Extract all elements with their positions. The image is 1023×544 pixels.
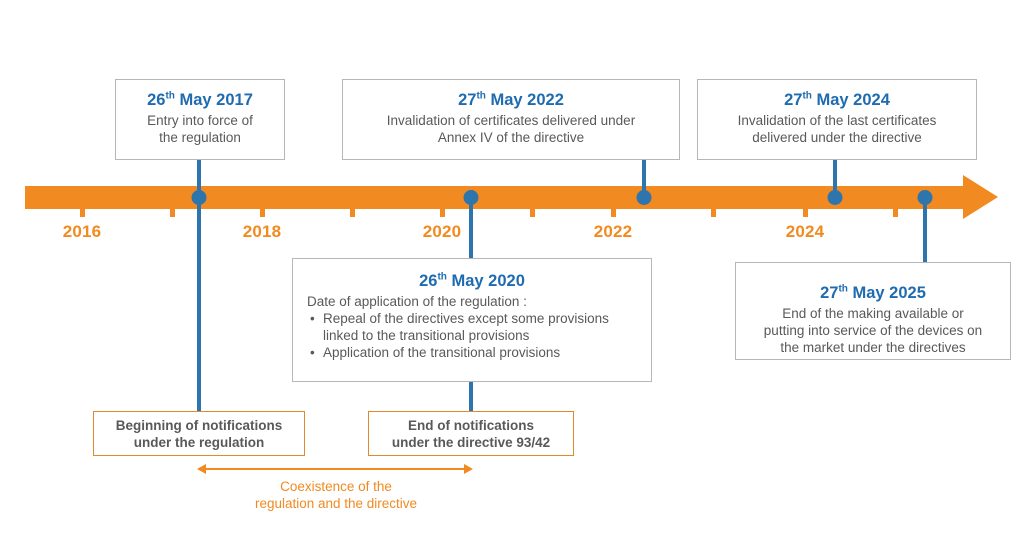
event-date-2025: 27th May 2025 — [736, 283, 1010, 304]
event-text-line: End of the making available or — [736, 305, 1010, 322]
event-date-2017: 26th May 2017 — [116, 90, 284, 111]
coexistence-label: Coexistence of the regulation and the di… — [255, 478, 417, 512]
event-date-2024: 27th May 2024 — [698, 90, 976, 111]
notification-text-line: End of notifications — [408, 418, 534, 433]
axis-tick — [350, 209, 355, 217]
event-box-end-of-making-available-2025[interactable]: 27th May 2025 End of the making availabl… — [735, 262, 1011, 360]
axis-year-label-2018: 2018 — [243, 222, 282, 242]
notification-text-line: under the directive 93/42 — [392, 435, 550, 450]
notification-box-end-of-notifications[interactable]: End of notifications under the directive… — [368, 411, 574, 456]
event-bullet-item: Repeal of the directives except some pro… — [323, 310, 637, 344]
coexistence-text-line: Coexistence of the — [280, 479, 392, 494]
coexistence-arrow-left-head-icon — [197, 464, 206, 474]
event-box-invalidation-annex-iv-2022[interactable]: 27th May 2022 Invalidation of certificat… — [342, 79, 680, 160]
axis-year-label-2024: 2024 — [786, 222, 825, 242]
notification-box-text: End of notifications under the directive… — [392, 417, 550, 451]
timeline-dot-2022[interactable] — [637, 190, 652, 205]
axis-tick — [611, 209, 616, 217]
axis-year-label-2016: 2016 — [63, 222, 102, 242]
axis-tick — [260, 209, 265, 217]
axis-tick — [440, 209, 445, 217]
event-date-2020: 26th May 2020 — [307, 271, 637, 292]
notification-text-line: Beginning of notifications — [116, 418, 282, 433]
event-date-2022: 27th May 2022 — [343, 90, 679, 111]
timeline-dot-2017[interactable] — [192, 190, 207, 205]
axis-tick — [530, 209, 535, 217]
coexistence-arrow-line — [205, 468, 466, 470]
coexistence-arrow-right-head-icon — [464, 464, 473, 474]
axis-tick — [80, 209, 85, 217]
timeline-dot-2024[interactable] — [828, 190, 843, 205]
event-box-invalidation-last-certificates-2024[interactable]: 27th May 2024 Invalidation of the last c… — [697, 79, 977, 160]
axis-tick — [170, 209, 175, 217]
timeline-dot-2020[interactable] — [464, 190, 479, 205]
event-bullet-item: Application of the transitional provisio… — [323, 344, 637, 361]
axis-tick — [711, 209, 716, 217]
event-text-line: Invalidation of the last certificates — [698, 112, 976, 129]
event-text-line: the market under the directives — [736, 339, 1010, 356]
event-text-line: putting into service of the devices on — [736, 322, 1010, 339]
event-text-line: Annex IV of the directive — [343, 129, 679, 146]
timeline-diagram: 2016 2018 2020 2022 2024 26th May 2017 E… — [0, 0, 1023, 544]
event-text-line: the regulation — [116, 129, 284, 146]
notification-text-line: under the regulation — [134, 435, 265, 450]
event-bullet-list: Repeal of the directives except some pro… — [307, 310, 637, 361]
timeline-dot-2025[interactable] — [918, 190, 933, 205]
axis-tick — [893, 209, 898, 217]
event-text-line: delivered under the directive — [698, 129, 976, 146]
axis-year-label-2022: 2022 — [594, 222, 633, 242]
notification-box-text: Beginning of notifications under the reg… — [116, 417, 282, 451]
notification-box-beginning-of-notifications[interactable]: Beginning of notifications under the reg… — [93, 411, 305, 456]
event-text-line: Invalidation of certificates delivered u… — [343, 112, 679, 129]
axis-tick — [803, 209, 808, 217]
timeline-arrow-head-icon — [963, 175, 998, 219]
coexistence-text-line: regulation and the directive — [255, 496, 417, 511]
axis-year-label-2020: 2020 — [423, 222, 462, 242]
event-box-date-of-application-2020[interactable]: 26th May 2020 Date of application of the… — [292, 258, 652, 382]
event-text-line: Entry into force of — [116, 112, 284, 129]
event-intro-text: Date of application of the regulation : — [307, 293, 637, 310]
event-box-entry-into-force-2017[interactable]: 26th May 2017 Entry into force of the re… — [115, 79, 285, 160]
